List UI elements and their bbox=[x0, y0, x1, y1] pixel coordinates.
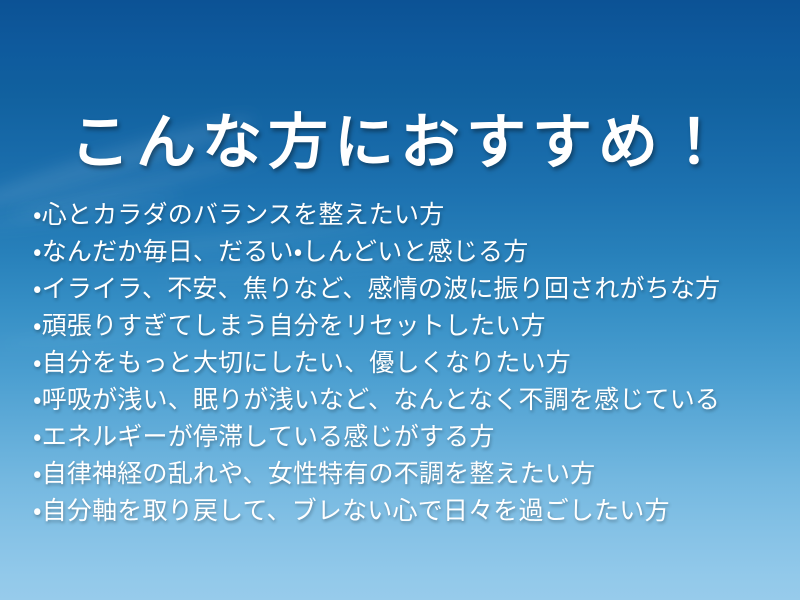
list-item: ・エネルギーが停滞している感じがする方 bbox=[33, 418, 788, 455]
list-item: ・呼吸が浅い、眠りが浅いなど、なんとなく不調を感じている bbox=[33, 381, 788, 418]
recommendation-list: ・心とカラダのバランスを整えたい方 ・なんだか毎日、だるい・しんどいと感じる方 … bbox=[33, 196, 788, 529]
page-title: こんな方におすすめ！ bbox=[0, 112, 800, 175]
slide-canvas: こんな方におすすめ！ ・心とカラダのバランスを整えたい方 ・なんだか毎日、だるい… bbox=[0, 0, 800, 600]
list-item: ・なんだか毎日、だるい・しんどいと感じる方 bbox=[33, 233, 788, 270]
list-item: ・自分軸を取り戻して、ブレない心で日々を過ごしたい方 bbox=[33, 492, 788, 529]
list-item: ・心とカラダのバランスを整えたい方 bbox=[33, 196, 788, 233]
list-item: ・自分をもっと大切にしたい、優しくなりたい方 bbox=[33, 344, 788, 381]
list-item: ・頑張りすぎてしまう自分をリセットしたい方 bbox=[33, 307, 788, 344]
list-item: ・イライラ、不安、焦りなど、感情の波に振り回されがちな方 bbox=[33, 270, 788, 307]
list-item: ・自律神経の乱れや、女性特有の不調を整えたい方 bbox=[33, 455, 788, 492]
